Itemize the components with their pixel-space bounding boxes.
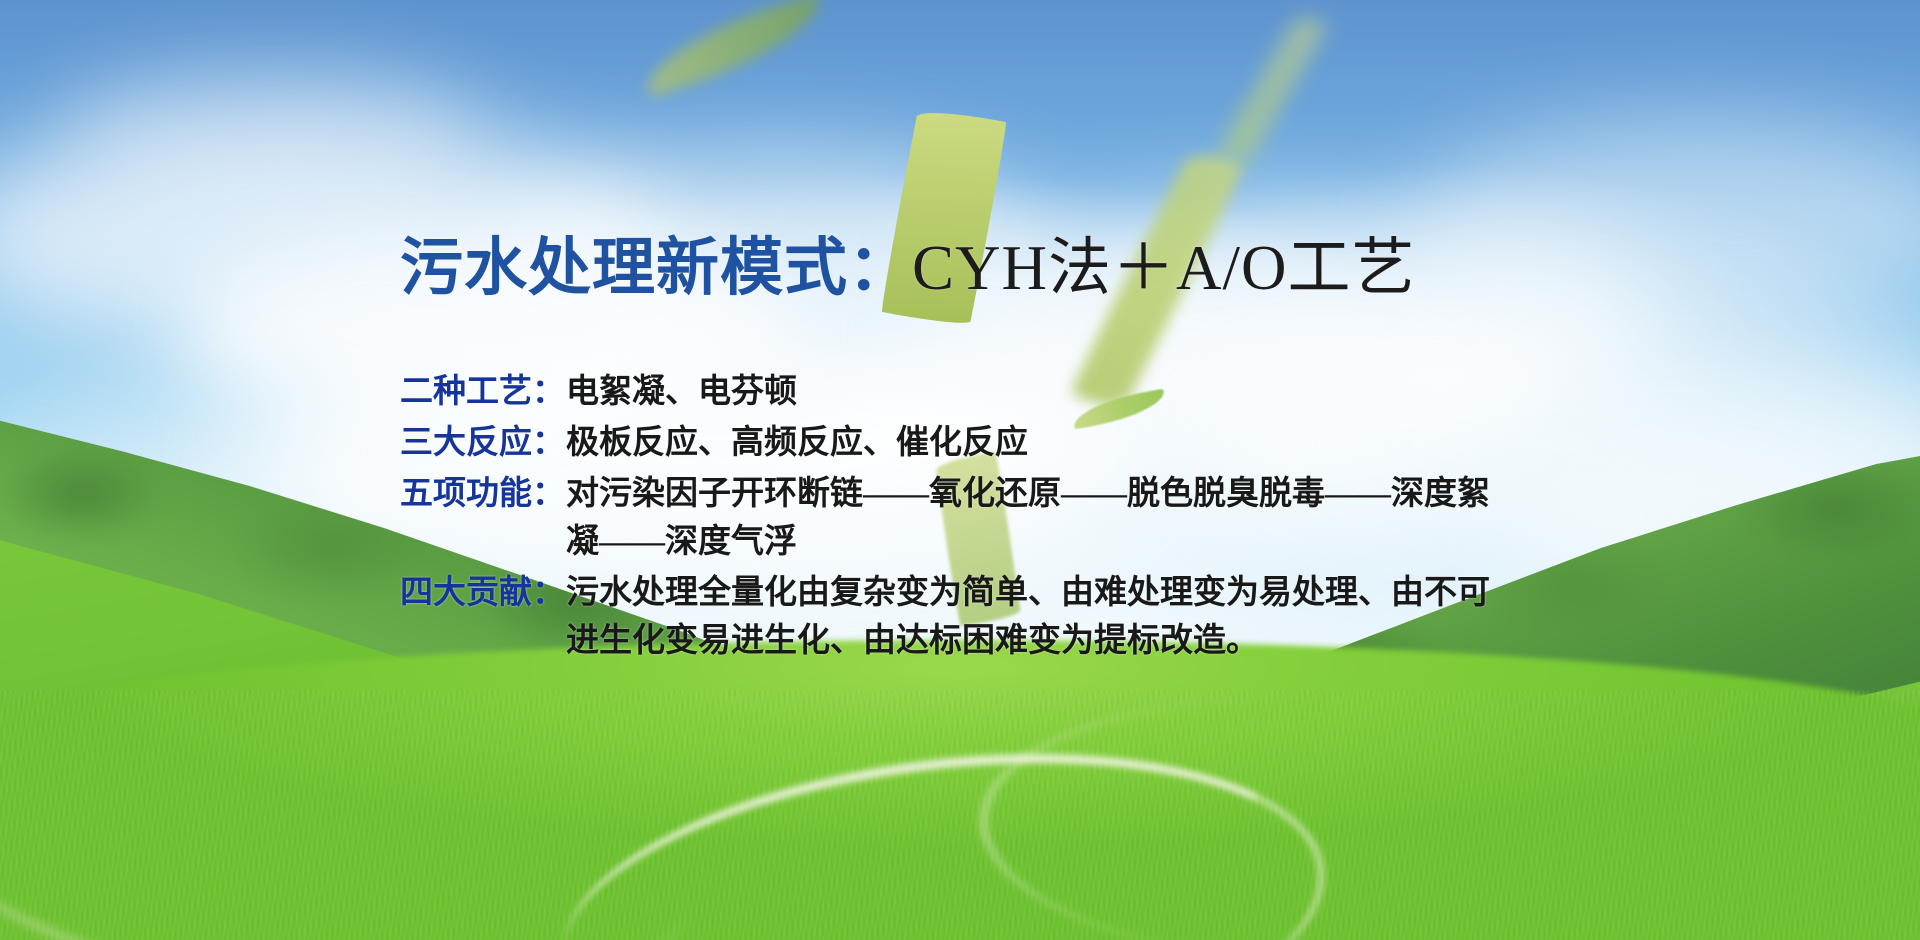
bullet-value: 对污染因子开环断链——氧化还原——脱色脱臭脱毒——深度絮凝——深度气浮 bbox=[566, 470, 1520, 566]
slide-title-highlight: 污水处理新模式： bbox=[400, 233, 912, 303]
bullet-label: 二种工艺： bbox=[400, 368, 566, 416]
slide-title-main: CYH法＋A/O工艺 bbox=[912, 233, 1416, 303]
bullet-label: 三大反应： bbox=[400, 419, 566, 467]
slide-title: 污水处理新模式：CYH法＋A/O工艺 bbox=[400, 237, 1416, 300]
list-item: 三大反应： 极板反应、高频反应、催化反应 bbox=[400, 419, 1520, 467]
bullet-value: 电絮凝、电芬顿 bbox=[566, 368, 1520, 416]
bullet-value: 污水处理全量化由复杂变为简单、由难处理变为易处理、由不可进生化变易进生化、由达标… bbox=[566, 569, 1520, 665]
list-item: 二种工艺： 电絮凝、电芬顿 bbox=[400, 368, 1520, 416]
bullet-label: 五项功能： bbox=[400, 470, 566, 518]
list-item: 五项功能： 对污染因子开环断链——氧化还原——脱色脱臭脱毒——深度絮凝——深度气… bbox=[400, 470, 1520, 566]
bullet-value: 极板反应、高频反应、催化反应 bbox=[566, 419, 1520, 467]
slide-bullet-list: 二种工艺： 电絮凝、电芬顿 三大反应： 极板反应、高频反应、催化反应 五项功能：… bbox=[400, 368, 1520, 668]
presentation-slide: 污水处理新模式：CYH法＋A/O工艺 二种工艺： 电絮凝、电芬顿 三大反应： 极… bbox=[0, 0, 1920, 940]
bullet-label: 四大贡献： bbox=[400, 569, 566, 617]
list-item: 四大贡献： 污水处理全量化由复杂变为简单、由难处理变为易处理、由不可进生化变易进… bbox=[400, 569, 1520, 665]
slide-content: 污水处理新模式：CYH法＋A/O工艺 二种工艺： 电絮凝、电芬顿 三大反应： 极… bbox=[0, 0, 1920, 940]
